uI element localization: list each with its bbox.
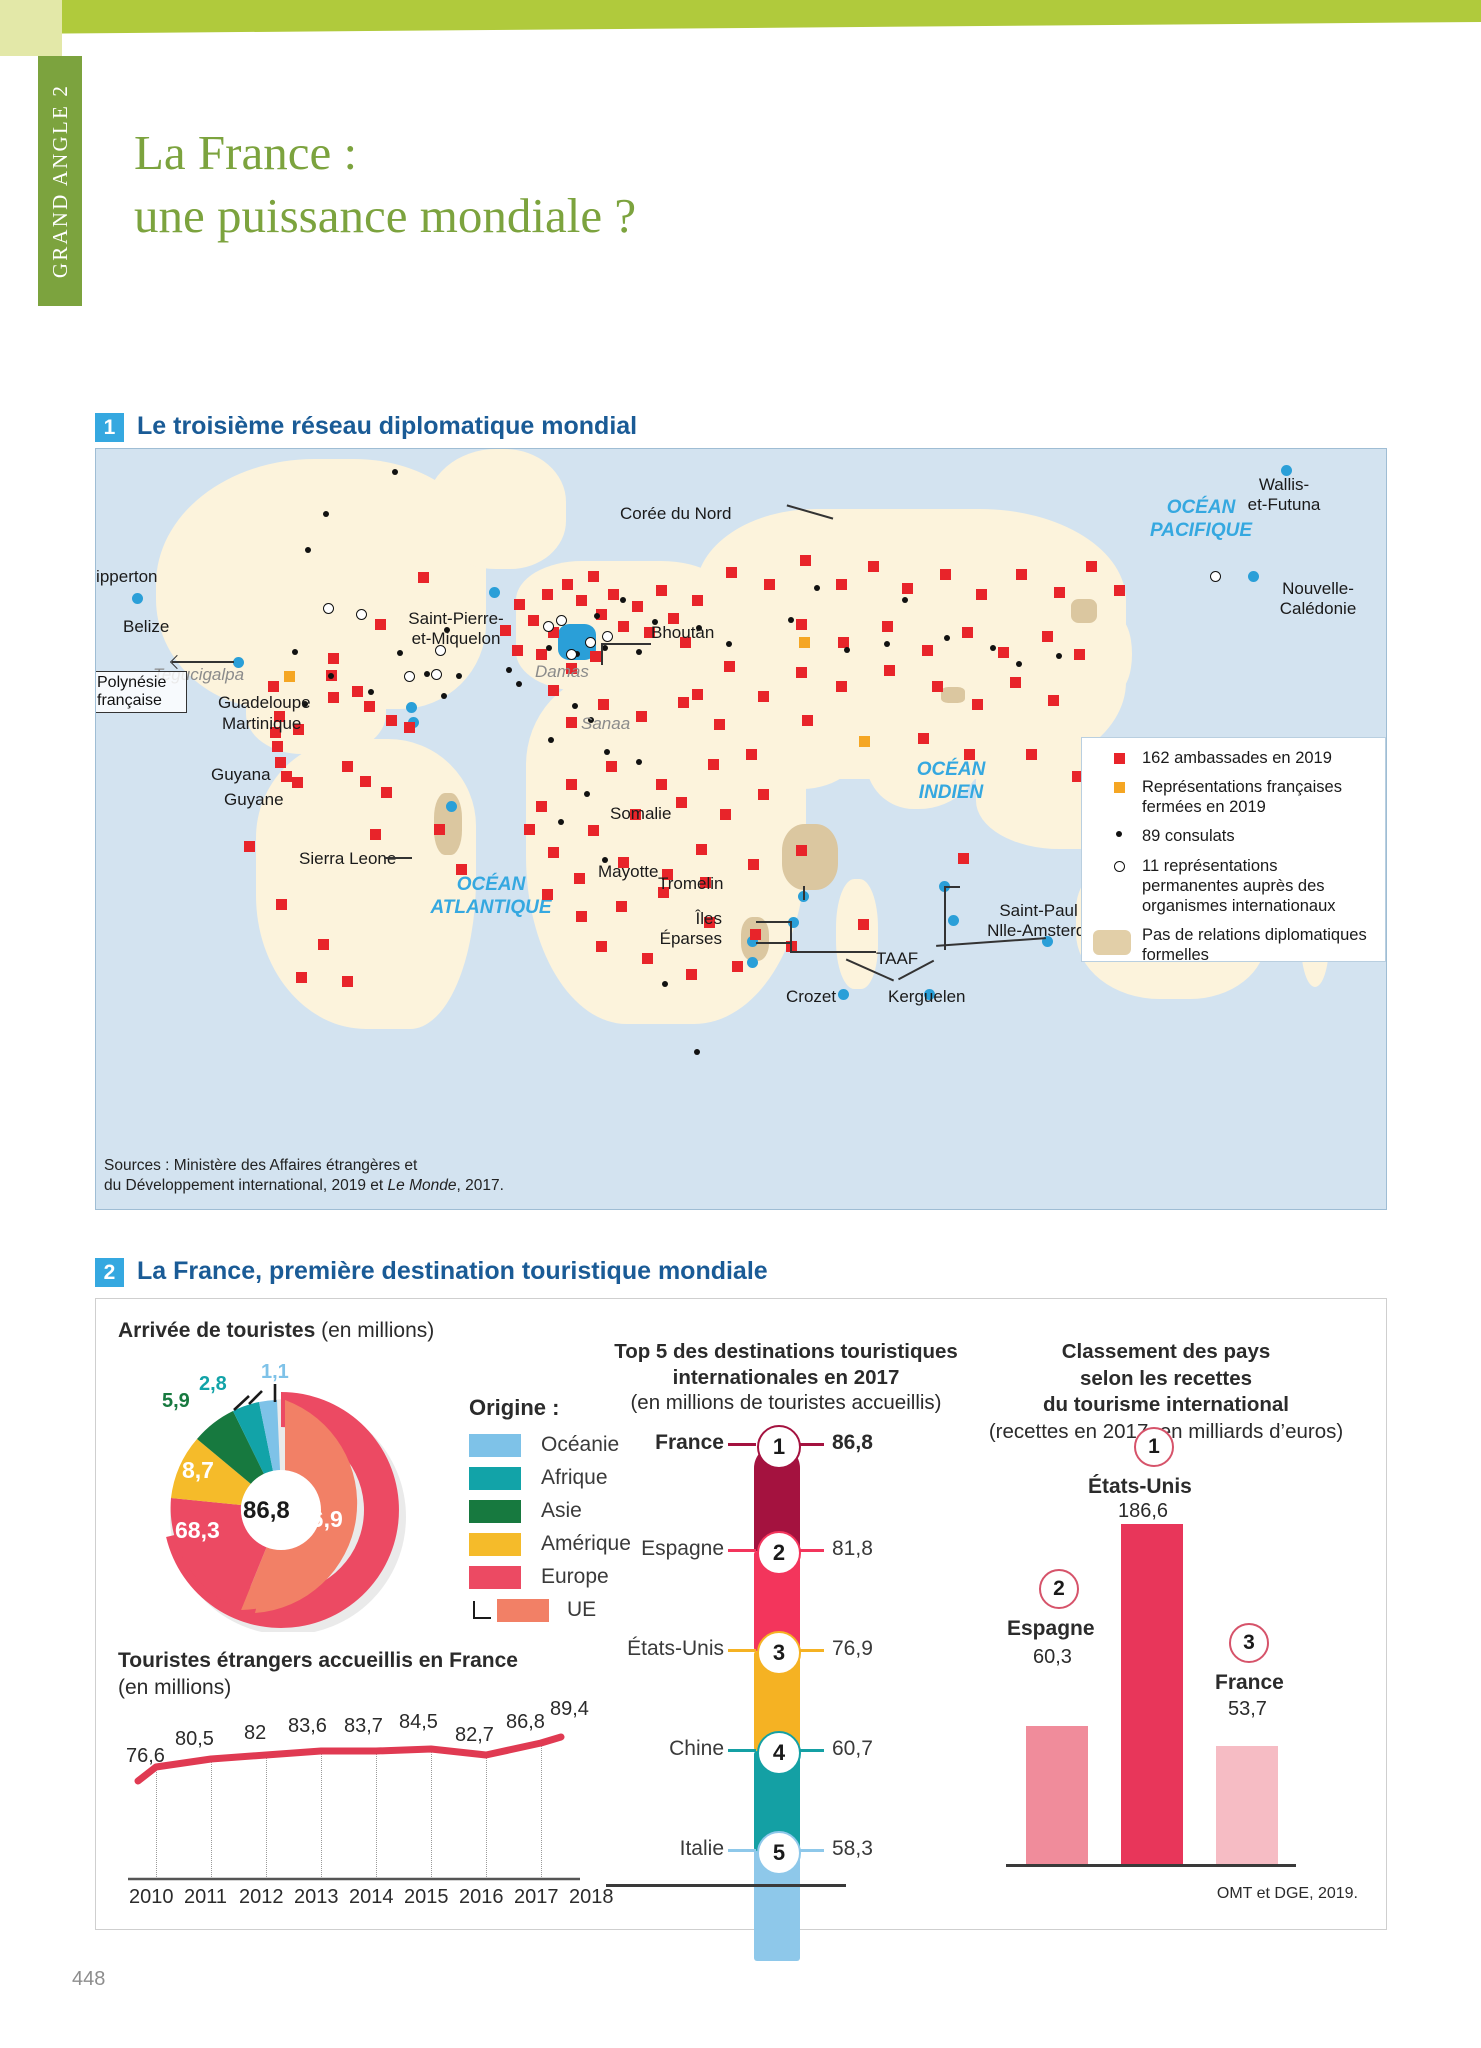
leader-line-damas: [601, 643, 651, 645]
embassy-marker: [758, 789, 769, 800]
axis-tick-2015: 2015: [404, 1886, 449, 1909]
line-value-2010: 76,6: [126, 1745, 165, 1768]
swatch-oceanie: [469, 1434, 521, 1457]
chapter-side-tab-label: GRAND ANGLE 2: [38, 56, 82, 306]
leader-line-sierra-leone: [384, 857, 412, 859]
map-label-tromelin: Tromelin: [658, 874, 724, 894]
consulate-marker: [392, 469, 398, 475]
map-label-iles-eparses: ÎlesÉparses: [652, 909, 722, 948]
axis-tick-2011: 2011: [184, 1886, 227, 1909]
closed-representation-marker: [284, 671, 295, 682]
top5-dash-3: [728, 1649, 756, 1652]
top5-value-chine: 60,7: [832, 1737, 873, 1761]
leader-line-eparses-2: [756, 942, 792, 944]
doc1-title: Le troisième réseau diplomatique mondial: [137, 412, 637, 441]
embassy-marker: [598, 699, 609, 710]
swatch-amerique: [469, 1533, 521, 1556]
embassy-marker: [542, 589, 553, 600]
consulate-marker: [884, 641, 890, 647]
donut-value-asie: 5,9: [162, 1390, 190, 1413]
embassy-marker: [964, 749, 975, 760]
map-label-sierra-leone: Sierra Leone: [299, 849, 396, 869]
ocean-label-indien: OCÉANINDIEN: [886, 759, 1016, 805]
leader-line-tromelin-h: [944, 886, 960, 888]
line-value-2013: 83,6: [288, 1715, 327, 1738]
map-label-wallis-futuna: Wallis-et-Futuna: [1214, 475, 1354, 514]
line-chart[interactable]: Touristes étrangers accueillis en France…: [118, 1649, 588, 1914]
embassy-marker: [276, 899, 287, 910]
consulate-marker: [636, 649, 642, 655]
territory-dot-clipperton: [132, 593, 143, 604]
receipts-label-espagne: Espagne: [1007, 1617, 1095, 1641]
map-label-coree-du-nord: Corée du Nord: [620, 504, 732, 524]
embassy-marker: [642, 953, 653, 964]
embassy-marker: [796, 619, 807, 630]
embassy-marker: [918, 733, 929, 744]
embassy-marker: [1054, 587, 1065, 598]
consulate-marker: [516, 681, 522, 687]
map-label-taaf: TAAF: [876, 949, 918, 969]
embassy-marker: [746, 749, 757, 760]
map-label-clipperton: Clipperton: [95, 567, 158, 587]
top5-dash-1r: [798, 1443, 824, 1446]
permanent-representation-marker: [431, 669, 442, 680]
embassy-marker: [566, 779, 577, 790]
embassy-marker: [962, 627, 973, 638]
embassy-marker: [868, 561, 879, 572]
top5-rank-2: 2: [757, 1531, 801, 1575]
consulate-marker: [546, 645, 552, 651]
top5-rank-5: 5: [757, 1831, 801, 1875]
legend-item-closed: Représentations françaises fermées en 20…: [1096, 777, 1377, 817]
top5-value-france: 86,8: [832, 1431, 873, 1455]
embassy-marker: [364, 701, 375, 712]
top5-label-etats-unis: États-Unis: [556, 1637, 724, 1661]
embassy-marker: [616, 901, 627, 912]
map-label-somalie: Somalie: [610, 804, 671, 824]
consulate-marker: [844, 647, 850, 653]
consulate-marker: [558, 819, 564, 825]
top5-rank-3: 3: [757, 1631, 801, 1675]
axis-tick-2016: 2016: [459, 1886, 504, 1909]
map-sources: Sources : Ministère des Affaires étrangè…: [104, 1156, 504, 1195]
line-value-2014: 83,7: [344, 1715, 383, 1738]
embassy-marker: [342, 976, 353, 987]
embassy-marker: [548, 685, 559, 696]
top5-baseline: [606, 1884, 846, 1887]
top5-rank-4: 4: [757, 1731, 801, 1775]
embassy-marker: [884, 665, 895, 676]
top5-value-etats-unis: 76,9: [832, 1637, 873, 1661]
consulate-marker: [814, 585, 820, 591]
embassy-marker: [1086, 561, 1097, 572]
map-label-nouvelle-caledonie: Nouvelle-Calédonie: [1248, 579, 1387, 618]
landmass-japan: [1106, 619, 1132, 689]
landmass-madagascar: [836, 879, 878, 989]
embassy-marker: [708, 759, 719, 770]
leader-line-taaf-h: [790, 951, 876, 953]
consulate-marker: [584, 791, 590, 797]
territory-dot-crozet: [838, 989, 849, 1000]
embassy-marker: [656, 585, 667, 596]
embassy-marker: [244, 841, 255, 852]
map-label-sanaa: Sanaa: [581, 714, 630, 734]
embassy-marker: [858, 919, 869, 930]
donut-value-ue: 56,9: [298, 1506, 343, 1533]
line-value-2012: 82: [244, 1722, 266, 1745]
embassy-marker: [596, 941, 607, 952]
norel-area-somalia: [782, 824, 838, 890]
legend-item-ambassades: 162 ambassades en 2019: [1096, 748, 1377, 768]
embassy-marker: [328, 653, 339, 664]
top5-chart[interactable]: Top 5 des destinations touristiques inte…: [636, 1339, 936, 1909]
embassy-marker: [692, 595, 703, 606]
embassy-marker: [381, 787, 392, 798]
receipts-label-france: France: [1215, 1671, 1284, 1695]
top-banner: [0, 0, 1481, 66]
embassy-marker: [606, 761, 617, 772]
embassy-marker: [758, 691, 769, 702]
map-label-martinique: Martinique: [222, 714, 301, 734]
top5-chart-title: Top 5 des destinations touristiques inte…: [581, 1339, 991, 1416]
embassy-marker: [882, 621, 893, 632]
top5-dash-5: [728, 1849, 756, 1852]
landmass-greenland: [426, 449, 566, 569]
axis-tick-2013: 2013: [294, 1886, 339, 1909]
embassy-marker: [632, 601, 643, 612]
embassy-marker: [714, 719, 725, 730]
embassy-marker: [750, 929, 761, 940]
embassy-marker: [281, 771, 292, 782]
embassy-marker: [972, 699, 983, 710]
red-square-icon: [1096, 748, 1142, 764]
embassy-marker: [542, 889, 553, 900]
embassy-marker: [1042, 631, 1053, 642]
embassy-marker: [566, 717, 577, 728]
world-map[interactable]: OCÉANPACIFIQUE OCÉANATLANTIQUE OCÉANINDI…: [95, 448, 1387, 1210]
swatch-asie: [469, 1500, 521, 1523]
legend-item-europe: Europe: [469, 1565, 631, 1589]
embassy-marker: [678, 697, 689, 708]
consulate-marker: [662, 981, 668, 987]
embassy-marker: [275, 757, 286, 768]
consulate-marker: [305, 547, 311, 553]
bar-etats-unis: [1121, 1524, 1183, 1864]
permanent-representation-marker: [556, 615, 567, 626]
embassy-marker: [802, 715, 813, 726]
leader-line-eparses-1: [756, 921, 792, 923]
norel-area-northkorea: [1071, 599, 1097, 623]
receipts-baseline: [1006, 1864, 1296, 1867]
embassy-marker: [800, 555, 811, 566]
legend-item-afrique: Afrique: [469, 1466, 631, 1490]
embassy-marker: [562, 579, 573, 590]
embassy-marker: [588, 571, 599, 582]
doc1-number-badge: 1: [95, 413, 124, 442]
map-label-crozet: Crozet: [786, 987, 836, 1007]
axis-tick-2010: 2010: [129, 1886, 174, 1909]
embassy-marker: [958, 853, 969, 864]
embassy-marker: [536, 801, 547, 812]
territory-dot-reunion: [948, 915, 959, 926]
receipts-value-france: 53,7: [1228, 1698, 1267, 1721]
consulate-marker: [456, 673, 462, 679]
embassy-marker: [576, 595, 587, 606]
map-label-belize: Belize: [123, 617, 169, 637]
embassy-marker: [576, 911, 587, 922]
embassy-marker: [588, 825, 599, 836]
map-legend: 162 ambassades en 2019 Représentations f…: [1081, 737, 1386, 962]
line-value-2016: 82,7: [455, 1724, 494, 1747]
top5-label-france: France: [556, 1431, 724, 1455]
open-circle-icon: [1096, 856, 1142, 872]
consulate-marker: [1056, 653, 1062, 659]
top5-rank-1: 1: [757, 1425, 801, 1469]
embassy-marker: [726, 567, 737, 578]
top5-label-chine: Chine: [556, 1737, 724, 1761]
permanent-representation-marker: [1210, 571, 1221, 582]
axis-tick-2014: 2014: [349, 1886, 394, 1909]
bracket-icon: [473, 1601, 491, 1619]
consulate-marker: [328, 673, 334, 679]
territory-dot-guyane: [446, 801, 457, 812]
donut-value-oceanie: 1,1: [261, 1361, 289, 1384]
receipts-rank-3: 3: [1229, 1623, 1269, 1663]
consulate-marker: [726, 641, 732, 647]
top5-value-espagne: 81,8: [832, 1537, 873, 1561]
consulate-marker: [506, 667, 512, 673]
embassy-marker: [676, 797, 687, 808]
permanent-representation-marker: [323, 603, 334, 614]
map-label-mayotte: Mayotte: [598, 862, 658, 882]
line-value-2017: 86,8: [506, 1711, 545, 1734]
map-label-polynesie-francaise: Polynésiefrançaise: [95, 671, 187, 713]
consulate-marker: [902, 597, 908, 603]
embassy-marker: [434, 824, 445, 835]
black-dot-icon: [1096, 826, 1142, 837]
closed-representation-marker: [799, 637, 810, 648]
embassy-marker: [836, 681, 847, 692]
banner-pale-block: [0, 0, 62, 56]
line-value-2018: 89,4: [550, 1698, 589, 1721]
top5-value-italie: 58,3: [832, 1837, 873, 1861]
permanent-representation-marker: [602, 631, 613, 642]
axis-tick-2018: 2018: [569, 1886, 614, 1909]
line-chart-svg: [118, 1649, 588, 1889]
top5-dash-5r: [798, 1849, 824, 1852]
swatch-europe: [469, 1566, 521, 1589]
doc2-number-badge: 2: [95, 1258, 124, 1287]
donut-value-amerique: 8,7: [182, 1457, 214, 1484]
embassy-marker: [692, 689, 703, 700]
consulate-marker: [788, 617, 794, 623]
receipts-value-etats-unis: 186,6: [1118, 1500, 1168, 1523]
leader-line-damas-v: [601, 643, 603, 665]
embassy-marker: [318, 939, 329, 950]
territory-dot-iles-eparses-3: [747, 957, 758, 968]
consulate-marker: [424, 671, 430, 677]
receipts-chart-title: Classement des pays selon les recettes d…: [966, 1339, 1366, 1446]
receipts-bar-chart[interactable]: Classement des pays selon les recettes d…: [966, 1339, 1366, 1909]
bar-espagne: [1026, 1726, 1088, 1864]
donut-value-europe: 68,3: [175, 1517, 220, 1544]
consulate-marker: [602, 645, 608, 651]
embassy-marker: [976, 589, 987, 600]
consulate-marker: [636, 759, 642, 765]
landmass-middle-east: [706, 659, 866, 789]
embassy-marker: [574, 873, 585, 884]
consulate-marker: [990, 645, 996, 651]
doc2-title: La France, première destination touristi…: [137, 1257, 768, 1286]
embassy-marker: [618, 621, 629, 632]
donut-center-value: 86,8: [243, 1497, 290, 1525]
permanent-representation-marker: [585, 637, 596, 648]
embassy-marker: [352, 686, 363, 697]
embassy-marker: [656, 779, 667, 790]
embassy-marker: [386, 715, 397, 726]
consulate-marker: [1016, 661, 1022, 667]
embassy-marker: [998, 647, 1009, 658]
embassy-marker: [536, 649, 547, 660]
embassy-marker: [456, 864, 467, 875]
permanent-representation-marker: [404, 671, 415, 682]
top5-dash-2: [728, 1549, 756, 1552]
consulate-marker: [548, 737, 554, 743]
embassy-marker: [268, 681, 279, 692]
embassy-marker: [796, 667, 807, 678]
consulate-marker: [441, 693, 447, 699]
legend-item-permanent: 11 représentations permanentes auprès de…: [1096, 856, 1377, 916]
map-label-kerguelen: Kerguelen: [888, 987, 966, 1007]
consulate-marker: [572, 703, 578, 709]
closed-representation-marker: [859, 736, 870, 747]
embassy-marker: [796, 845, 807, 856]
legend-item-ue: UE: [473, 1598, 631, 1622]
top5-label-italie: Italie: [556, 1837, 724, 1861]
embassy-marker: [922, 645, 933, 656]
embassy-marker: [548, 847, 559, 858]
embassy-marker: [590, 651, 601, 662]
top5-dash-1: [728, 1443, 756, 1446]
embassy-marker: [1074, 649, 1085, 660]
beige-swatch-icon: [1096, 925, 1142, 955]
donut-chart[interactable]: 86,8 56,9 68,3 8,7 5,9 2,8 1,1: [116, 1367, 446, 1632]
chapter-side-tab: GRAND ANGLE 2: [38, 56, 82, 306]
embassy-marker: [342, 761, 353, 772]
embassy-marker: [732, 961, 743, 972]
map-label-saint-pierre-miquelon: Saint-Pierre-et-Miquelon: [366, 609, 546, 648]
receipts-rank-2: 2: [1039, 1569, 1079, 1609]
embassy-marker: [1010, 677, 1021, 688]
swatch-afrique: [469, 1467, 521, 1490]
page-number: 448: [72, 1968, 105, 1991]
page-title-line1: La France :: [134, 122, 1034, 185]
embassy-marker: [696, 844, 707, 855]
leader-line-mayotte: [803, 886, 805, 900]
top5-dash-4: [728, 1749, 756, 1752]
line-value-2015: 84,5: [399, 1711, 438, 1734]
consulate-marker: [944, 635, 950, 641]
map-label-guadeloupe: Guadeloupe: [218, 693, 311, 713]
top5-dash-3r: [798, 1649, 824, 1652]
consulate-marker: [323, 511, 329, 517]
receipts-label-etats-unis: États-Unis: [1088, 1475, 1192, 1499]
leader-line-taaf-v: [790, 921, 792, 953]
embassy-marker: [370, 829, 381, 840]
embassy-marker: [932, 681, 943, 692]
donut-chart-title: Arrivée de touristes (en millions): [118, 1319, 434, 1343]
embassy-marker: [720, 809, 731, 820]
embassy-marker: [524, 824, 535, 835]
embassy-marker: [940, 569, 951, 580]
donut-value-afrique: 2,8: [199, 1373, 227, 1396]
page-title-line2: une puissance mondiale ?: [134, 185, 1034, 248]
embassy-marker: [724, 661, 735, 672]
axis-tick-2017: 2017: [514, 1886, 559, 1909]
embassy-marker: [296, 972, 307, 983]
embassy-marker: [404, 722, 415, 733]
receipts-rank-1: 1: [1134, 1427, 1174, 1467]
consulate-marker: [620, 597, 626, 603]
consulate-marker: [594, 613, 600, 619]
map-label-guyane: Guyane: [224, 790, 284, 810]
embassy-marker: [608, 589, 619, 600]
embassy-marker: [1026, 749, 1037, 760]
legend-item-asie: Asie: [469, 1499, 631, 1523]
embassy-marker: [292, 777, 303, 788]
consulate-marker: [368, 689, 374, 695]
embassy-marker: [272, 741, 283, 752]
permanent-representation-marker: [566, 649, 577, 660]
consulate-marker: [397, 650, 403, 656]
embassy-marker: [360, 776, 371, 787]
territory-dot-guadeloupe: [406, 702, 417, 713]
top5-dash-2r: [798, 1549, 824, 1552]
norel-area-bhutan: [941, 687, 965, 703]
receipts-source: OMT et DGE, 2019.: [1217, 1885, 1358, 1903]
top5-dash-4r: [798, 1749, 824, 1752]
embassy-marker: [902, 583, 913, 594]
top5-label-espagne: Espagne: [556, 1537, 724, 1561]
line-value-2011: 80,5: [175, 1728, 214, 1751]
page-title: La France : une puissance mondiale ?: [134, 122, 1034, 247]
consulate-marker: [292, 649, 298, 655]
consulate-marker: [604, 749, 610, 755]
tourism-panel: Arrivée de touristes (en millions): [95, 1298, 1387, 1930]
embassy-marker: [636, 711, 647, 722]
embassy-marker: [328, 692, 339, 703]
embassy-marker: [686, 969, 697, 980]
embassy-marker: [1016, 569, 1027, 580]
orange-square-icon: [1096, 777, 1142, 793]
axis-tick-2012: 2012: [239, 1886, 284, 1909]
embassy-marker: [836, 579, 847, 590]
map-label-damas: Damas: [535, 662, 589, 682]
embassy-marker: [1114, 585, 1125, 596]
map-label-guyana: Guyana: [211, 765, 271, 785]
consulate-marker: [694, 1049, 700, 1055]
legend-item-consulats: 89 consulats: [1096, 826, 1377, 846]
bar-france: [1216, 1746, 1278, 1864]
legend-item-no-relations: Pas de relations diplomatiques formelles: [1096, 925, 1377, 965]
territory-dot-saint-pierre: [489, 587, 500, 598]
leader-line-tromelin: [944, 886, 946, 950]
embassy-marker: [418, 572, 429, 583]
swatch-ue: [497, 1599, 549, 1622]
embassy-marker: [1048, 695, 1059, 706]
map-label-bhoutan: Bhoutan: [651, 623, 714, 643]
receipts-value-espagne: 60,3: [1033, 1646, 1072, 1669]
